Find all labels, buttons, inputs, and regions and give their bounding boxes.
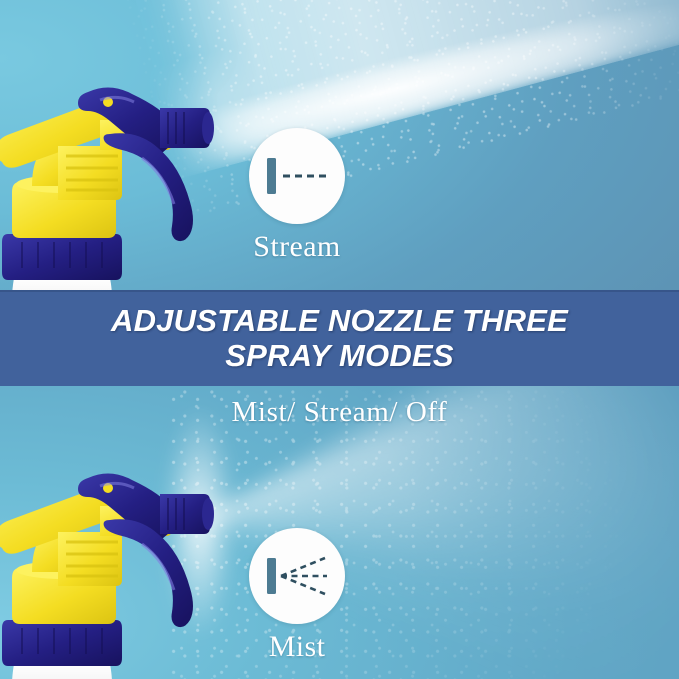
mode-circle-stream — [249, 128, 345, 224]
stream-spray-plume — [118, 0, 679, 180]
mode-label-stream: Stream — [222, 230, 372, 263]
headline-line-2: SPRAY MODES — [225, 339, 453, 374]
mode-circle-mist — [249, 528, 345, 624]
stream-nozzle-icon — [259, 146, 335, 206]
stream-spray-droplets — [104, 0, 679, 229]
headline-line-1: ADJUSTABLE NOZZLE THREE — [111, 304, 568, 339]
headline-banner: ADJUSTABLE NOZZLE THREE SPRAY MODES — [0, 290, 679, 386]
mode-badge-stream: Stream — [222, 128, 372, 263]
mist-nozzle-icon — [259, 546, 335, 606]
mode-label-mist: Mist — [222, 630, 372, 663]
product-feature-poster: Stream Mist ADJUSTABLE NOZZLE THREE SPRA… — [0, 0, 679, 679]
mode-badge-mist: Mist — [222, 528, 372, 663]
